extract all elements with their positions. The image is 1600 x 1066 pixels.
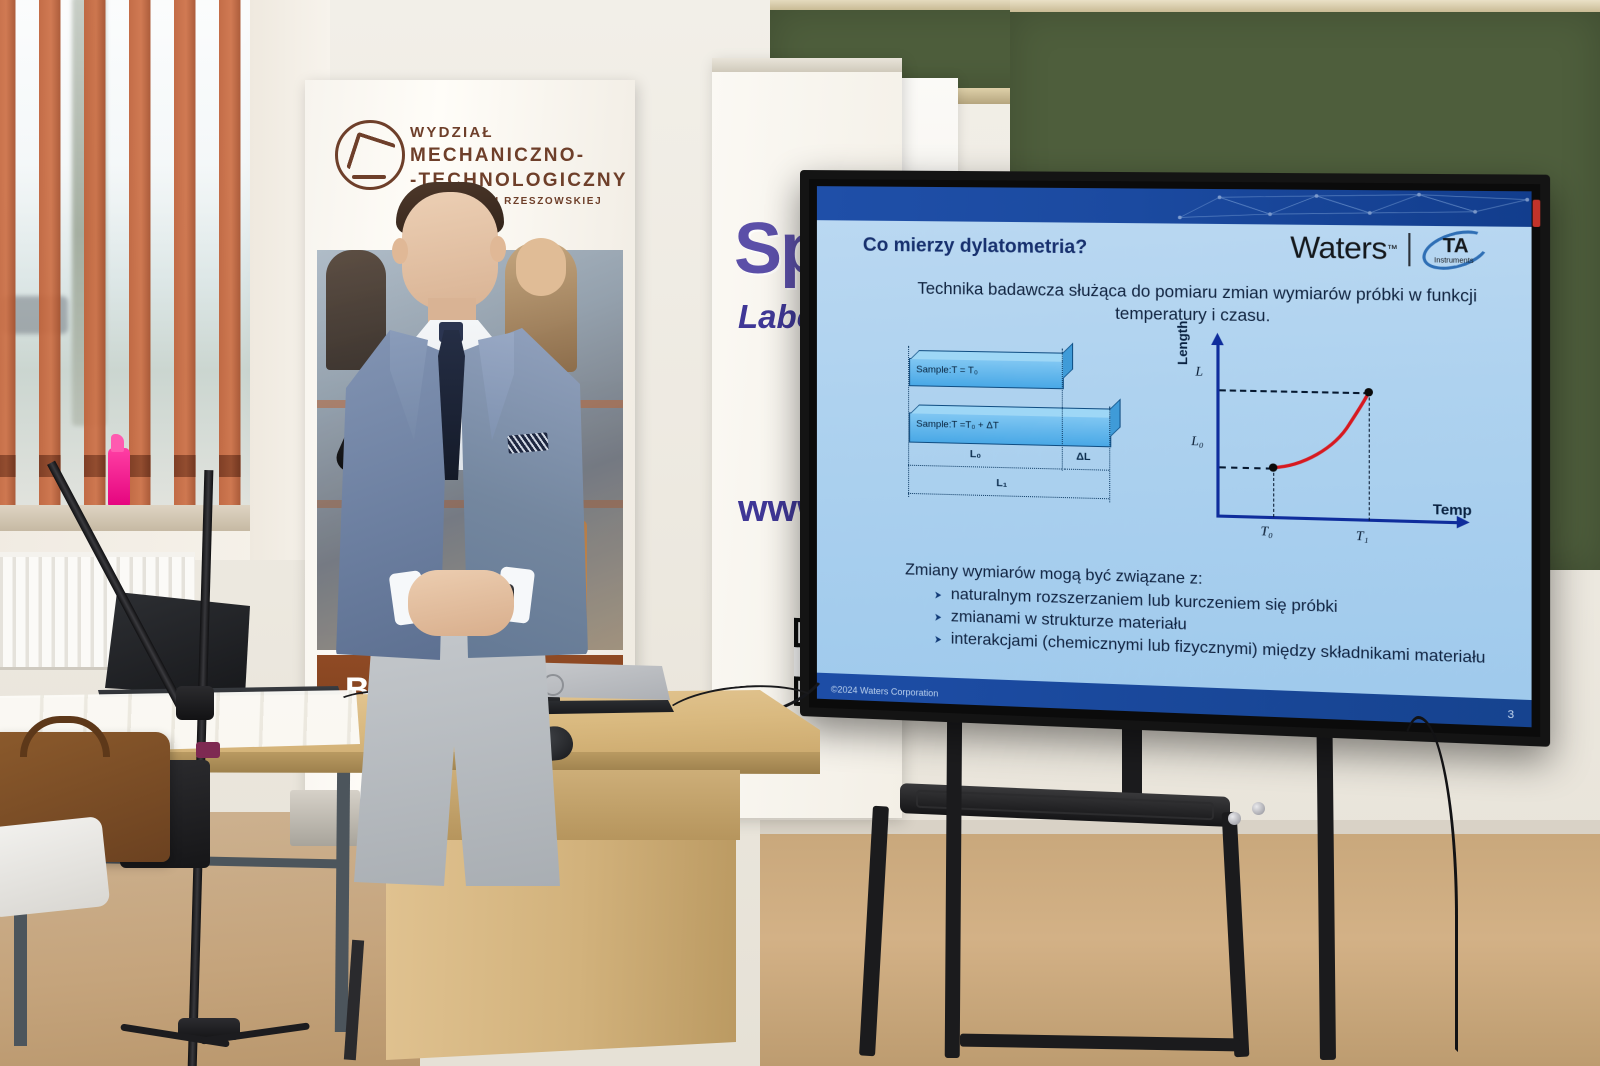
wall-mounted-display[interactable]: Co mierzy dylatometria? Waters™ TA Instr… (800, 170, 1550, 747)
bar-top-face (910, 405, 1119, 418)
background-person-head (516, 238, 566, 296)
presenter-pocket-square (507, 432, 548, 453)
banner-line-1: WYDZIAŁ (410, 124, 494, 141)
ta-letters: TA (1443, 235, 1469, 258)
power-led-indicator (1533, 200, 1541, 227)
dimension-dL-label: ΔL (1076, 451, 1090, 464)
presenter-ear-left (392, 238, 408, 264)
waters-ta-logo: Waters™ TA Instruments (1290, 229, 1488, 271)
cart-screw-right (1252, 802, 1265, 815)
spray-bottle (108, 448, 130, 510)
presenter-clasped-hands (408, 570, 514, 636)
banner-line-2: MECHANICZNO- (410, 145, 585, 167)
banner-top-cap (712, 58, 902, 72)
dim-guide-right (1109, 406, 1110, 502)
dim-guide-left (908, 346, 909, 497)
cart-leg-back-left (945, 690, 963, 1058)
cart-screw-left (1228, 812, 1241, 825)
sample-bar-expanded-label: Sample:T =T₀ + ΔT (916, 419, 999, 432)
presentation-room-photo: WYDZIAŁ MECHANICZNO- -TECHNOLOGICZNY POL… (0, 0, 1600, 1066)
sample-expansion-diagram: Sample:T = T₀ Sample:T =T₀ + ΔT L₀ ΔL (895, 346, 1203, 556)
length-vs-temp-chart: Length Temp L L₀ T₀ T₁ (1168, 342, 1465, 561)
presenter-head (402, 192, 498, 310)
wood-floor-right (760, 834, 1600, 1066)
bar-side-face (1063, 343, 1073, 379)
sample-bar-expanded: Sample:T =T₀ + ΔT (909, 412, 1111, 447)
slide-lead-paragraph: Technika badawcza służąca do pomiaru zmi… (905, 277, 1490, 331)
waters-wordmark: Waters™ (1290, 231, 1397, 267)
presenter (330, 180, 630, 740)
network-pattern-decoration (1169, 189, 1531, 227)
chart-curve (1168, 342, 1465, 561)
microphone-adjust-knob[interactable] (196, 742, 220, 758)
microphone-boom-clamp[interactable] (176, 686, 214, 720)
bar-top-face (910, 350, 1072, 362)
dimension-L1-line (908, 493, 1109, 499)
bar-side-face (1110, 399, 1120, 438)
display-screen[interactable]: Co mierzy dylatometria? Waters™ TA Instr… (817, 186, 1532, 727)
slide-title: Co mierzy dylatometria? (863, 235, 1087, 260)
ta-subtext: Instruments (1434, 257, 1473, 265)
dimension-dL-line (1064, 469, 1109, 471)
chart-point-T1-L (1364, 388, 1373, 396)
presentation-slide: Co mierzy dylatometria? Waters™ TA Instr… (817, 186, 1532, 727)
chalkboard-frame-top (1010, 0, 1600, 12)
waters-word: Waters (1290, 231, 1387, 266)
dimension-L0-label: L₀ (970, 448, 981, 460)
dimension-L0-line (908, 465, 1062, 470)
white-object-on-floor (0, 816, 110, 918)
sample-bar-initial: Sample:T = T₀ (909, 358, 1064, 389)
chart-point-T0-L0 (1269, 463, 1277, 471)
waters-trademark: ™ (1387, 244, 1398, 256)
dimension-L1-label: L₁ (996, 477, 1007, 489)
presenter-ear-right (490, 236, 506, 262)
dim-guide-mid (1062, 349, 1063, 471)
slide-header-band (817, 186, 1532, 227)
logo-divider (1408, 233, 1410, 266)
slide-page-number: 3 (1507, 709, 1514, 722)
slide-bullet-block: Zmiany wymiarów mogą być związane z: nat… (905, 559, 1512, 671)
sample-bar-initial-label: Sample:T = T₀ (916, 364, 978, 376)
ta-instruments-icon: TA Instruments (1421, 230, 1488, 270)
